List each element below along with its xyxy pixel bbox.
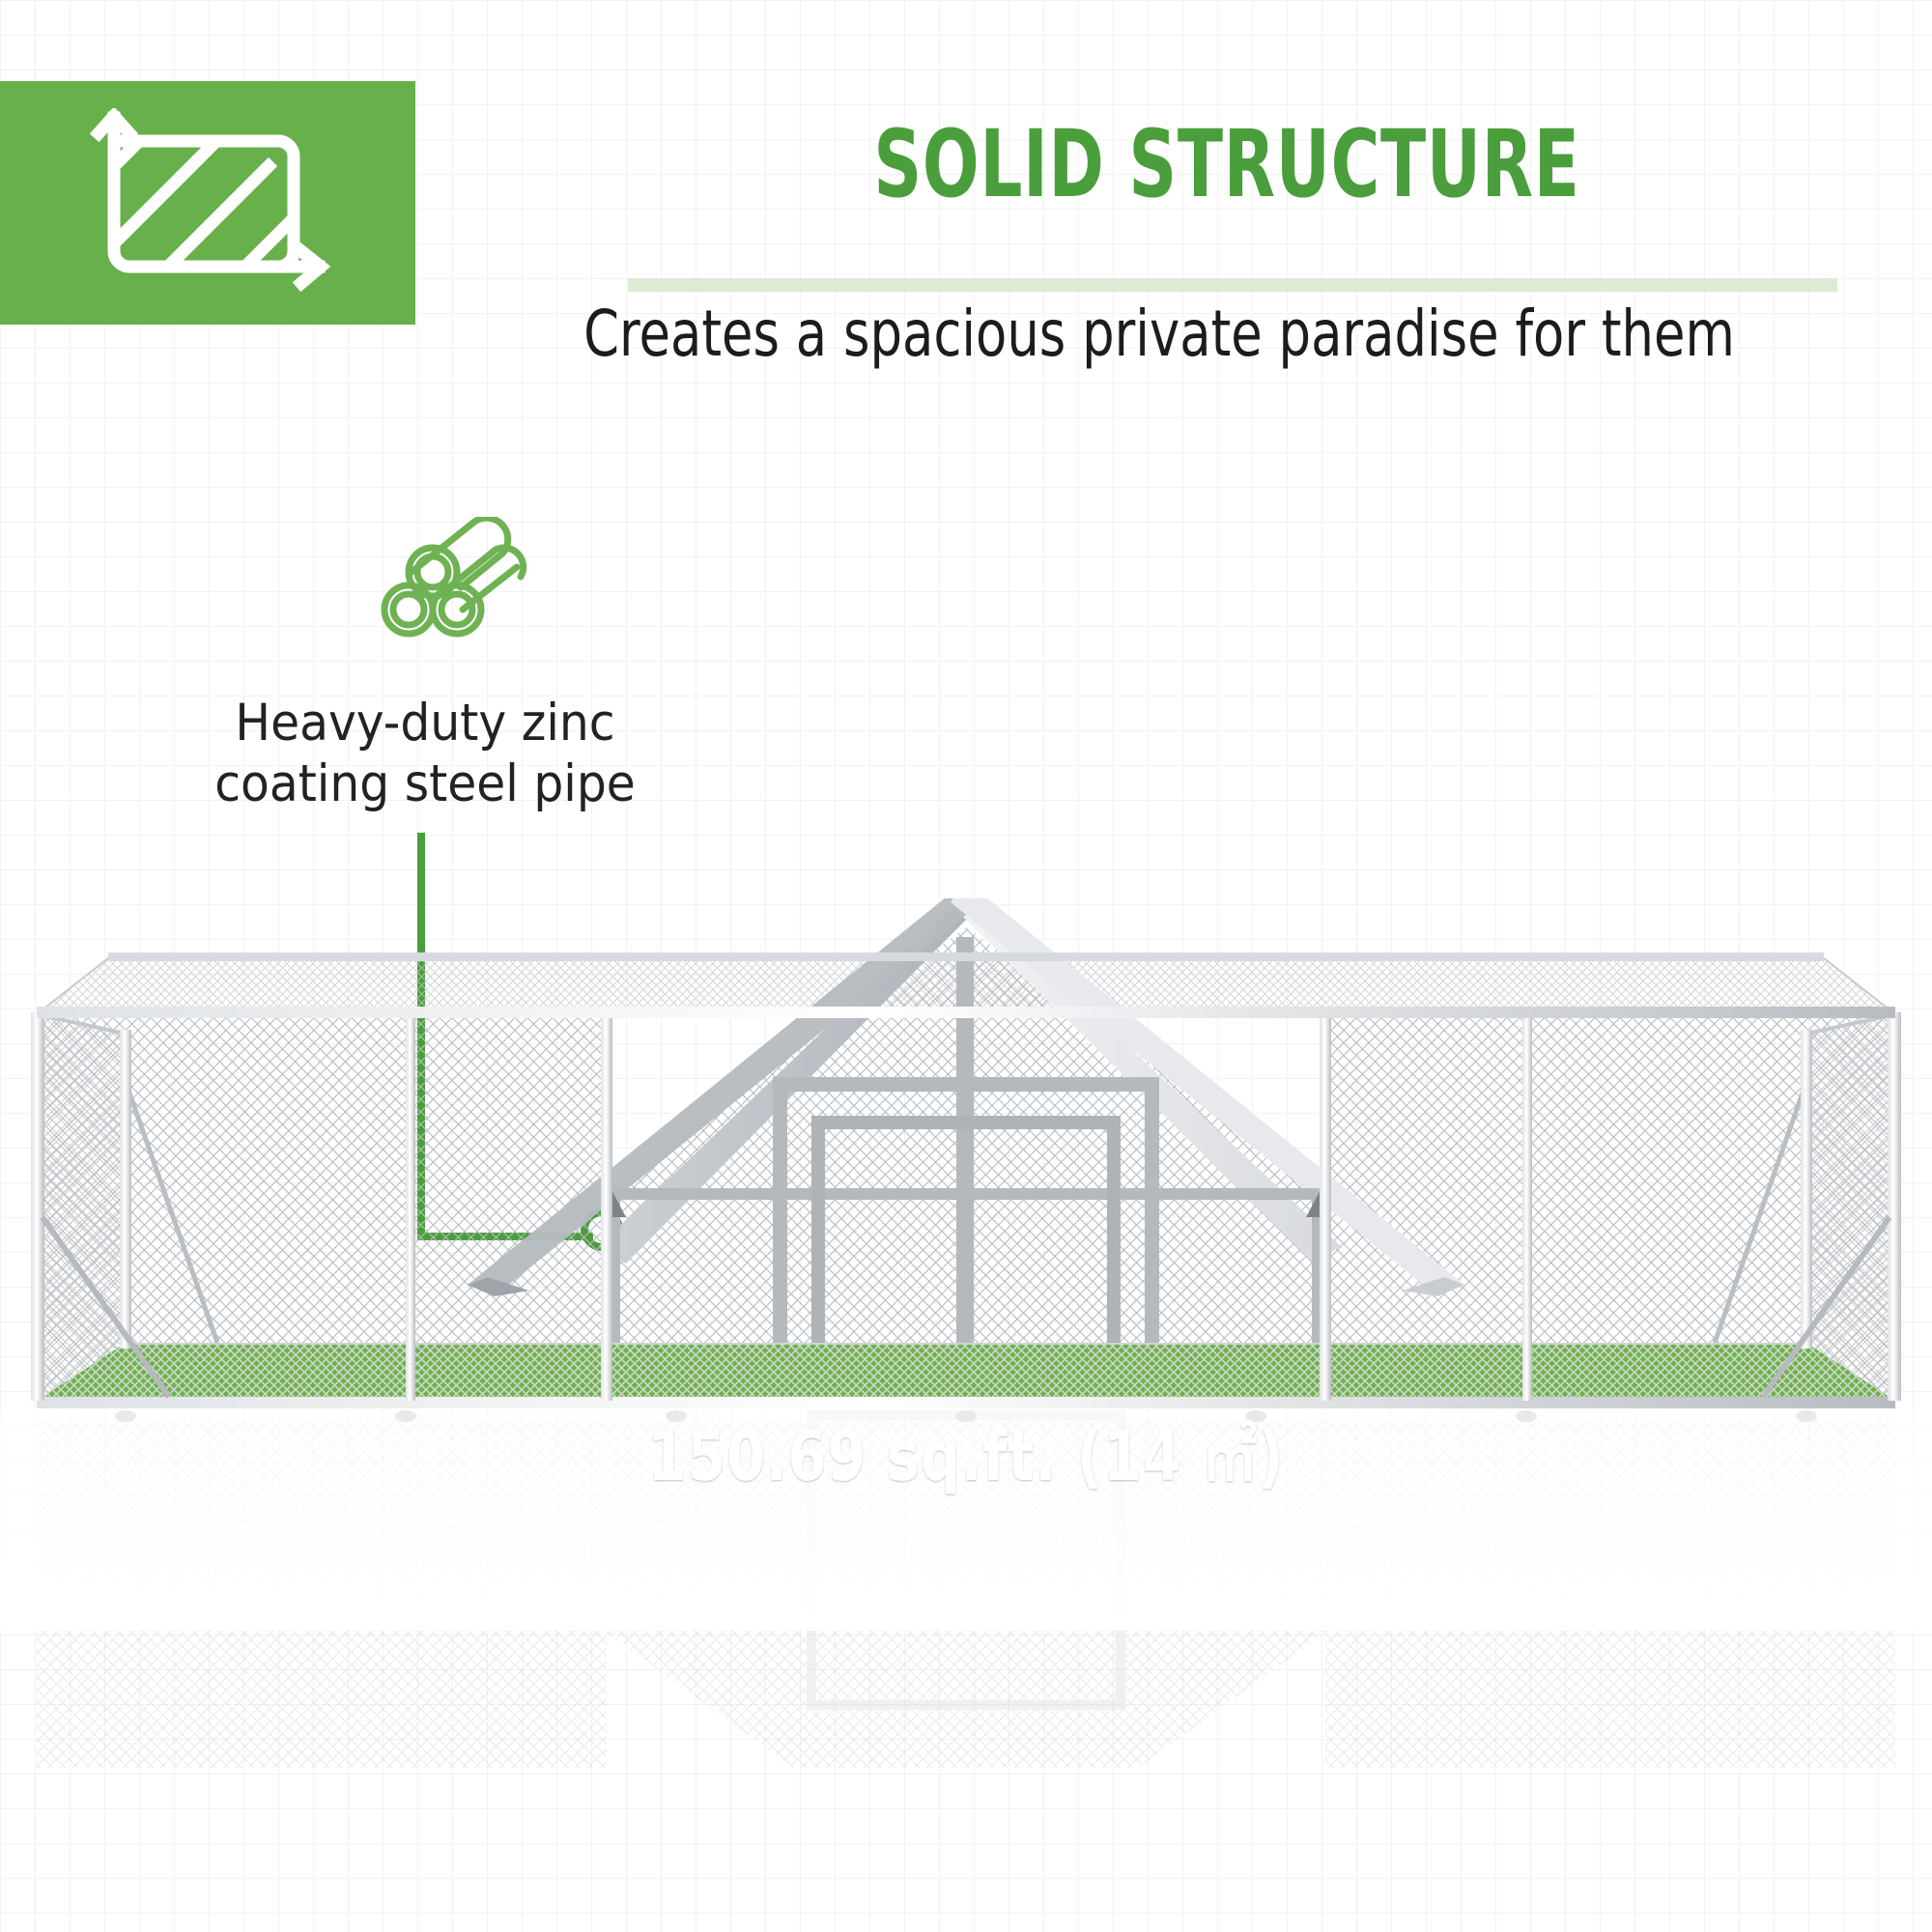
chicken-coop-illustration: [0, 898, 1932, 1768]
infographic-canvas: SOLID STRUCTURE Creates a spacious priva…: [0, 0, 1932, 1932]
callout-line-2: coating steel pipe: [214, 754, 636, 813]
area-expand-icon: [85, 108, 336, 301]
area-expand-icon-badge: [0, 81, 415, 325]
page-title: SOLID STRUCTURE: [733, 118, 1720, 213]
callout-line-1: Heavy-duty zinc: [235, 694, 614, 753]
steel-pipes-icon: [372, 517, 565, 638]
coop-body: [0, 898, 1932, 1768]
area-badge: 150.69 sq.ft. (14 ㎡): [174, 1403, 1758, 1500]
page-subtitle: Creates a spacious private paradise for …: [556, 299, 1762, 370]
callout-label: Heavy-duty zinc coating steel pipe: [141, 694, 710, 814]
door-frame-top: [811, 1116, 1121, 1129]
title-divider: [628, 278, 1837, 292]
